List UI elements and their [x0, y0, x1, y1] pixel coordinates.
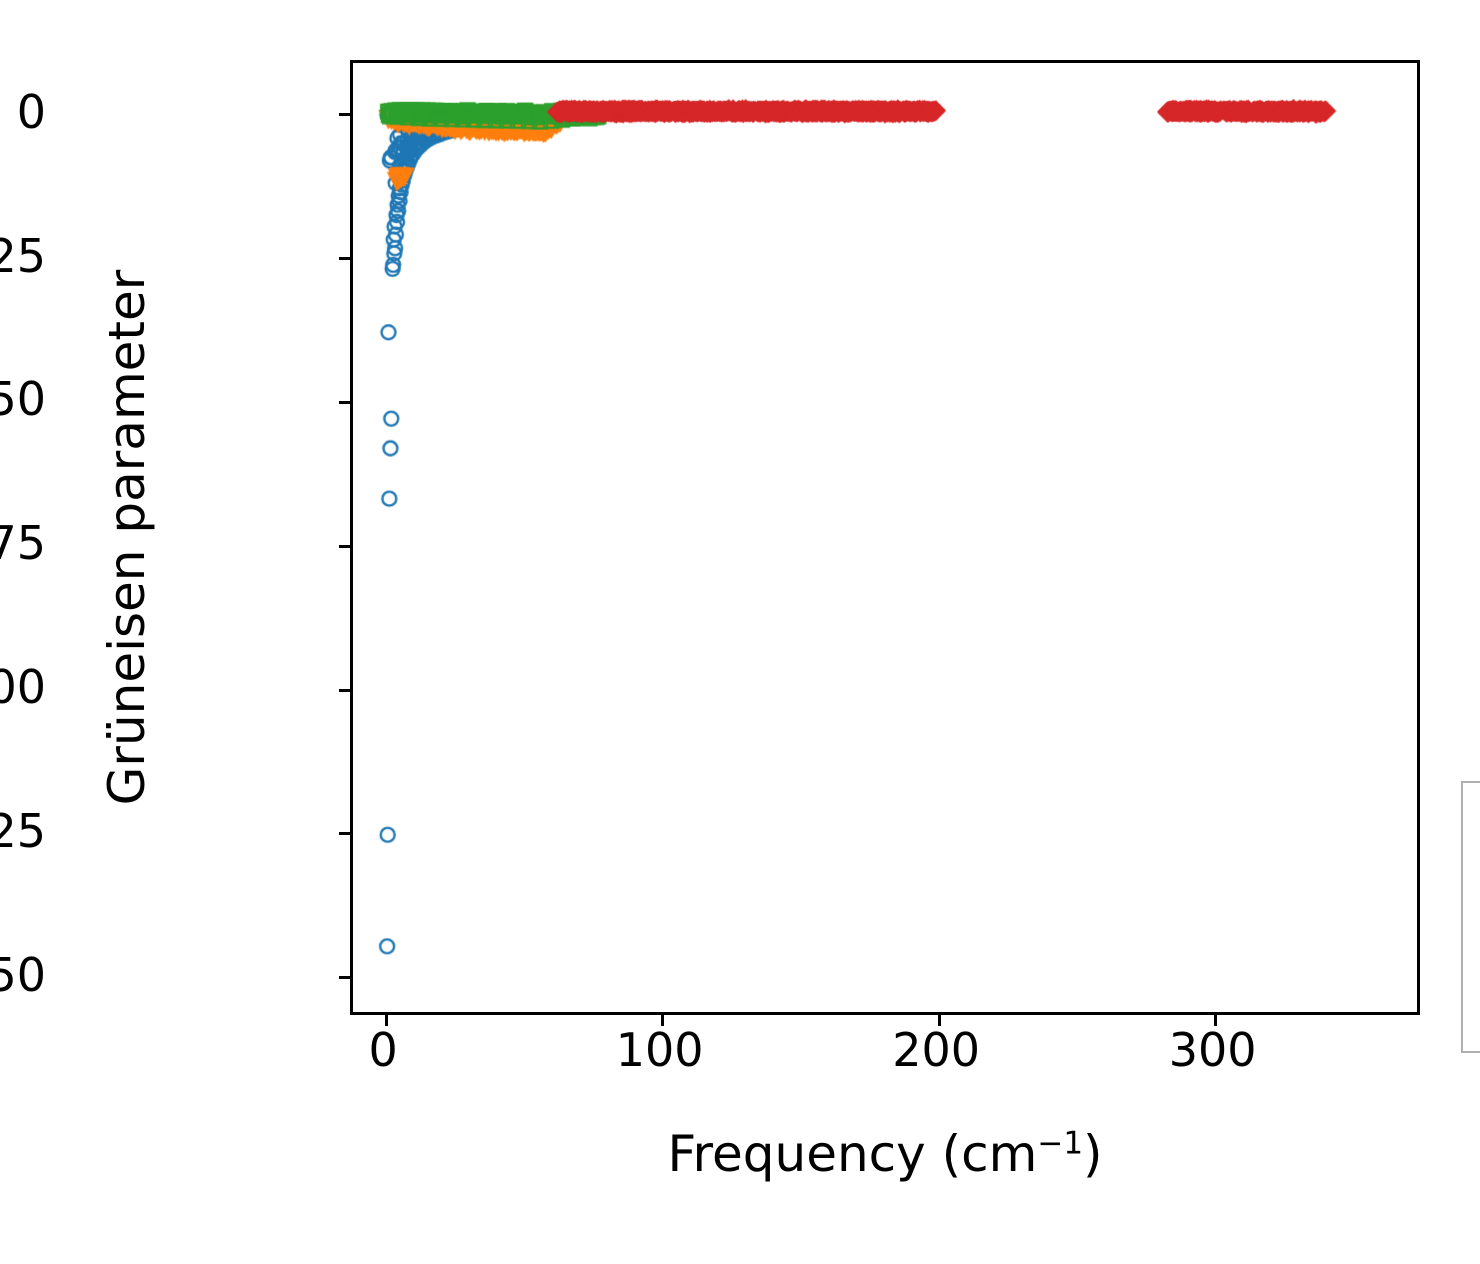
x-axis-title: Frequency (cm−1) [350, 1125, 1420, 1183]
x-axis-title-tail: ) [1083, 1125, 1103, 1183]
plot-legend[interactable]: TA(1) TA(2) LA [1461, 781, 1480, 1053]
x-axis-title-main: Frequency (cm [667, 1125, 1037, 1183]
figure-canvas: TA(1) TA(2) LA [0, 0, 1480, 1264]
y-tick-mark [339, 832, 353, 835]
scatter-plot-data-area [353, 63, 1417, 1012]
y-axis-title: Grüneisen parameter [96, 60, 158, 1015]
y-tick-label: −50 [0, 372, 46, 426]
y-tick-mark [339, 689, 353, 692]
y-tick-mark [339, 257, 353, 260]
y-tick-label: −100 [0, 660, 46, 714]
legend-entry-optical[interactable]: Optical [1463, 982, 1480, 1045]
y-tick-label: −75 [0, 516, 46, 570]
legend-entry-ta2[interactable]: TA(2) [1463, 856, 1480, 919]
x-axis-title-exponent: −1 [1037, 1125, 1083, 1161]
y-tick-label: −25 [0, 229, 46, 283]
y-tick-label: −150 [0, 948, 46, 1002]
plot-axes: TA(1) TA(2) LA [350, 60, 1420, 1015]
y-tick-label: −125 [0, 804, 46, 858]
x-tick-label: 200 [892, 1023, 980, 1077]
x-tick-label: 300 [1169, 1023, 1257, 1077]
y-tick-label: 0 [17, 85, 46, 139]
x-tick-label: 100 [616, 1023, 704, 1077]
y-tick-mark [339, 976, 353, 979]
legend-entry-la[interactable]: LA [1463, 919, 1480, 982]
x-tick-label: 0 [369, 1023, 398, 1077]
y-tick-mark [339, 401, 353, 404]
y-tick-mark [339, 113, 353, 116]
y-tick-mark [339, 545, 353, 548]
legend-entry-ta1[interactable]: TA(1) [1463, 793, 1480, 856]
